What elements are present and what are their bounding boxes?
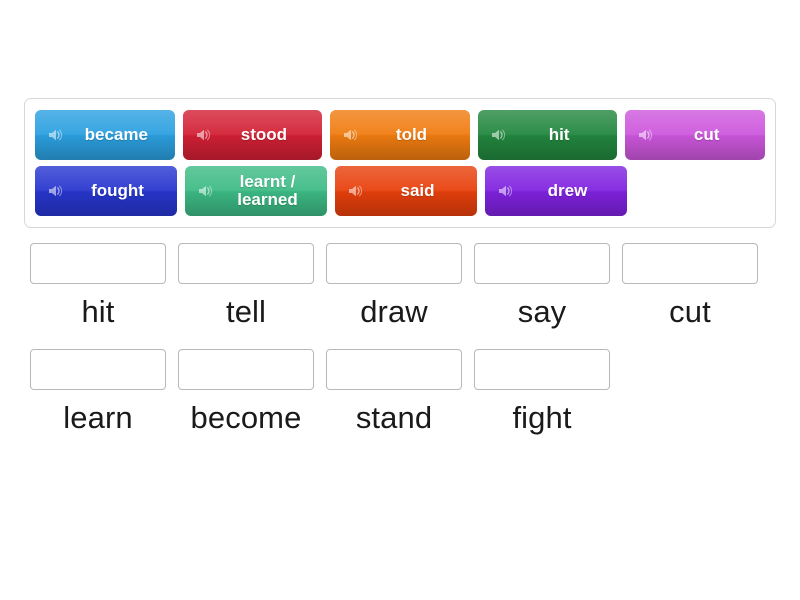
speaker-icon[interactable] [346,182,364,200]
speaker-icon[interactable] [46,126,64,144]
speaker-icon[interactable] [489,126,507,144]
prompt-word: tell [226,296,266,327]
answer-cell: stand [320,349,468,433]
word-tile[interactable]: said [335,166,477,216]
prompt-word: fight [512,402,571,433]
word-tile[interactable]: stood [183,110,323,160]
word-tile-label: drew [514,182,627,200]
drop-slot[interactable] [474,243,610,284]
word-tile[interactable]: drew [485,166,627,216]
answer-cell: cut [616,243,764,327]
answer-row-1: hittelldrawsaycut [24,243,776,327]
answer-bank-row-1: becamestoodtoldhitcut [31,107,769,163]
speaker-icon[interactable] [341,126,359,144]
answer-area: hittelldrawsaycut learnbecomestandfight [24,243,776,455]
prompt-word: hit [81,296,114,327]
word-tile[interactable]: learnt / learned [185,166,327,216]
answer-cell: become [172,349,320,433]
word-tile[interactable]: hit [478,110,618,160]
word-tile-label: fought [64,182,177,200]
prompt-word: stand [356,402,432,433]
word-tile[interactable]: fought [35,166,177,216]
prompt-word: say [518,296,567,327]
word-tile[interactable]: cut [625,110,765,160]
answer-bank: becamestoodtoldhitcut foughtlearnt / lea… [24,98,776,228]
answer-cell: tell [172,243,320,327]
prompt-word: cut [669,296,711,327]
speaker-icon[interactable] [46,182,64,200]
prompt-word: become [191,402,302,433]
word-tile-label: became [64,126,175,144]
word-tile-label: said [364,182,477,200]
word-tile[interactable]: told [330,110,470,160]
drop-slot[interactable] [30,243,166,284]
drop-slot[interactable] [622,243,758,284]
speaker-icon[interactable] [196,182,214,200]
prompt-word: learn [63,402,132,433]
word-tile-label: told [359,126,470,144]
drop-slot[interactable] [178,349,314,390]
answer-cell: hit [24,243,172,327]
prompt-word: draw [360,296,428,327]
answer-cell: say [468,243,616,327]
answer-cell: fight [468,349,616,433]
drop-slot[interactable] [326,243,462,284]
answer-row-2: learnbecomestandfight [24,349,776,433]
word-tile-label: cut [654,126,765,144]
answer-cell: learn [24,349,172,433]
speaker-icon[interactable] [636,126,654,144]
word-tile-label: stood [212,126,323,144]
speaker-icon[interactable] [194,126,212,144]
word-tile-label: learnt / learned [214,173,327,210]
drop-slot[interactable] [474,349,610,390]
drop-slot[interactable] [30,349,166,390]
answer-cell: draw [320,243,468,327]
speaker-icon[interactable] [496,182,514,200]
word-tile[interactable]: became [35,110,175,160]
word-tile-label: hit [507,126,618,144]
answer-bank-row-2: foughtlearnt / learnedsaiddrew [31,163,769,219]
drop-slot[interactable] [326,349,462,390]
drop-slot[interactable] [178,243,314,284]
